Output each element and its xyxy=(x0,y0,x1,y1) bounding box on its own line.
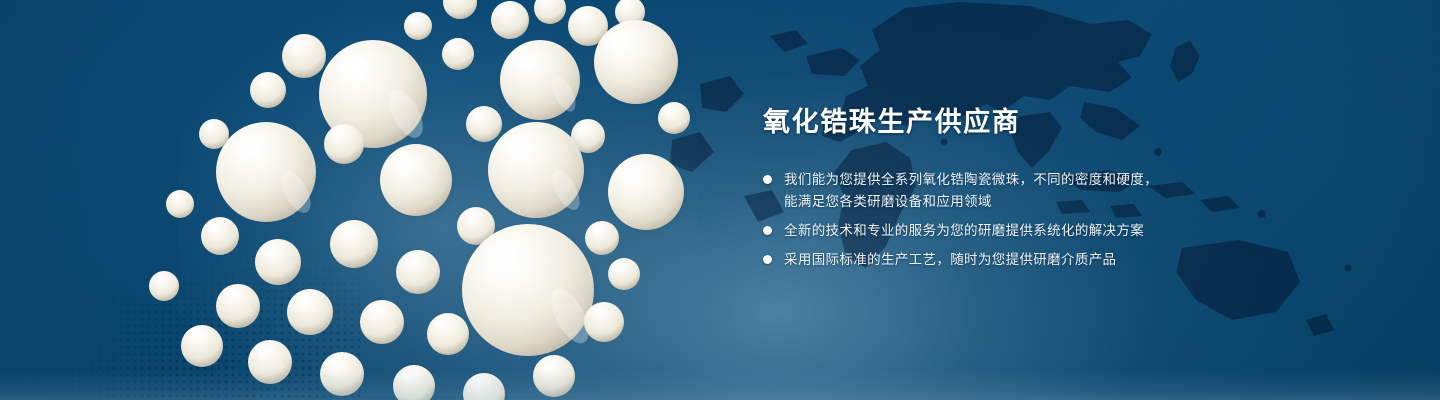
bullet-item: 采用国际标准的生产工艺，随时为您提供研磨介质产品 xyxy=(763,249,1293,271)
halftone-dot-texture xyxy=(0,170,360,400)
bullet-line-1: 采用国际标准的生产工艺，随时为您提供研磨介质产品 xyxy=(784,252,1116,267)
bullet-dot-icon xyxy=(763,226,772,235)
bullet-line-2: 能满足您各类研磨设备和应用领域 xyxy=(784,191,1158,213)
banner-bullet-list: 我们能为您提供全系列氧化锆陶瓷微珠，不同的密度和硬度， 能满足您各类研磨设备和应… xyxy=(763,169,1293,271)
bullet-dot-icon xyxy=(763,175,772,184)
banner-headline: 氧化锆珠生产供应商 xyxy=(763,106,1293,139)
bullet-line-1: 我们能为您提供全系列氧化锆陶瓷微珠，不同的密度和硬度， xyxy=(784,172,1158,187)
bullet-text: 采用国际标准的生产工艺，随时为您提供研磨介质产品 xyxy=(784,249,1116,271)
bullet-dot-icon xyxy=(763,255,772,264)
hero-banner: 氧化锆珠生产供应商 我们能为您提供全系列氧化锆陶瓷微珠，不同的密度和硬度， 能满… xyxy=(0,0,1440,400)
bullet-item: 我们能为您提供全系列氧化锆陶瓷微珠，不同的密度和硬度， 能满足您各类研磨设备和应… xyxy=(763,169,1293,213)
bullet-text: 全新的技术和专业的服务为您的研磨提供系统化的解决方案 xyxy=(784,220,1144,242)
bullet-line-1: 全新的技术和专业的服务为您的研磨提供系统化的解决方案 xyxy=(784,223,1144,238)
bullet-item: 全新的技术和专业的服务为您的研磨提供系统化的解决方案 xyxy=(763,220,1293,242)
banner-copy: 氧化锆珠生产供应商 我们能为您提供全系列氧化锆陶瓷微珠，不同的密度和硬度， 能满… xyxy=(763,106,1293,271)
bullet-text: 我们能为您提供全系列氧化锆陶瓷微珠，不同的密度和硬度， 能满足您各类研磨设备和应… xyxy=(784,169,1158,213)
